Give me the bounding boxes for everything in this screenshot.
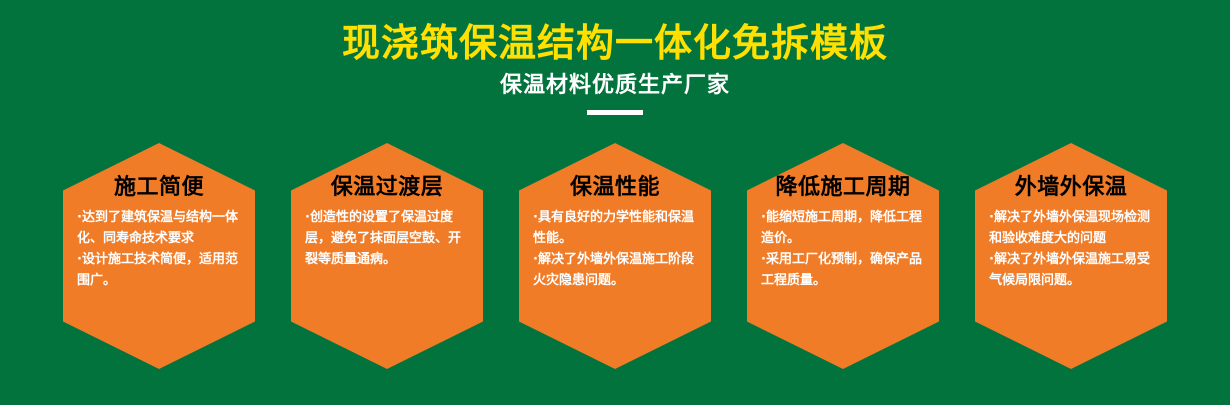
feature-bullet: ·达到了建筑保温与结构一体化、同寿命技术要求 xyxy=(77,207,243,249)
feature-bullet: ·具有良好的力学性能和保温性能。 xyxy=(533,207,699,249)
feature-card-heading: 施工简便 xyxy=(75,175,243,201)
feature-card-insulation-transition-layer[interactable]: 保温过渡层 ·创造性的设置了保温过度层，避免了抹面层空鼓、开裂等质量通病。 xyxy=(291,143,483,369)
feature-bullet: ·解决了外墙外保温现场检测和验收难度大的问题 xyxy=(989,207,1155,249)
feature-card-content: 保温过渡层 ·创造性的设置了保温过度层，避免了抹面层空鼓、开裂等质量通病。 xyxy=(291,143,483,270)
feature-card-insulation-performance[interactable]: 保温性能 ·具有良好的力学性能和保温性能。 ·解决了外墙外保温施工阶段火灾隐患问… xyxy=(519,143,711,369)
feature-bullet: ·解决了外墙外保温施工易受气候局限问题。 xyxy=(989,249,1155,291)
feature-card-bullets: ·创造性的设置了保温过度层，避免了抹面层空鼓、开裂等质量通病。 xyxy=(303,207,471,270)
feature-card-heading: 保温过渡层 xyxy=(303,175,471,201)
feature-bullet: ·能缩短施工周期，降低工程造价。 xyxy=(761,207,927,249)
feature-bullet: ·创造性的设置了保温过度层，避免了抹面层空鼓、开裂等质量通病。 xyxy=(305,207,471,270)
feature-hexagon-row: 施工简便 ·达到了建筑保温与结构一体化、同寿命技术要求 ·设计施工技术简便，适用… xyxy=(0,143,1230,369)
header-divider xyxy=(587,110,643,115)
feature-card-content: 外墙外保温 ·解决了外墙外保温现场检测和验收难度大的问题 ·解决了外墙外保温施工… xyxy=(975,143,1167,291)
feature-card-heading: 保温性能 xyxy=(531,175,699,201)
header-divider-wrap xyxy=(0,110,1230,115)
page-subtitle: 保温材料优质生产厂家 xyxy=(0,72,1230,100)
feature-card-content: 保温性能 ·具有良好的力学性能和保温性能。 ·解决了外墙外保温施工阶段火灾隐患问… xyxy=(519,143,711,291)
feature-card-content: 降低施工周期 ·能缩短施工周期，降低工程造价。 ·采用工厂化预制，确保产品工程质… xyxy=(747,143,939,291)
feature-bullet: ·解决了外墙外保温施工阶段火灾隐患问题。 xyxy=(533,249,699,291)
feature-card-bullets: ·具有良好的力学性能和保温性能。 ·解决了外墙外保温施工阶段火灾隐患问题。 xyxy=(531,207,699,291)
feature-card-exterior-wall-insulation[interactable]: 外墙外保温 ·解决了外墙外保温现场检测和验收难度大的问题 ·解决了外墙外保温施工… xyxy=(975,143,1167,369)
feature-card-heading: 外墙外保温 xyxy=(987,175,1155,201)
feature-bullet: ·采用工厂化预制，确保产品工程质量。 xyxy=(761,249,927,291)
banner-header: 现浇筑保温结构一体化免拆模板 保温材料优质生产厂家 xyxy=(0,0,1230,115)
feature-card-reduced-construction-cycle[interactable]: 降低施工周期 ·能缩短施工周期，降低工程造价。 ·采用工厂化预制，确保产品工程质… xyxy=(747,143,939,369)
feature-bullet: ·设计施工技术简便，适用范围广。 xyxy=(77,249,243,291)
feature-card-content: 施工简便 ·达到了建筑保温与结构一体化、同寿命技术要求 ·设计施工技术简便，适用… xyxy=(63,143,255,291)
feature-card-bullets: ·能缩短施工周期，降低工程造价。 ·采用工厂化预制，确保产品工程质量。 xyxy=(759,207,927,291)
feature-card-construction-convenience[interactable]: 施工简便 ·达到了建筑保温与结构一体化、同寿命技术要求 ·设计施工技术简便，适用… xyxy=(63,143,255,369)
feature-card-bullets: ·解决了外墙外保温现场检测和验收难度大的问题 ·解决了外墙外保温施工易受气候局限… xyxy=(987,207,1155,291)
feature-card-bullets: ·达到了建筑保温与结构一体化、同寿命技术要求 ·设计施工技术简便，适用范围广。 xyxy=(75,207,243,291)
feature-card-heading: 降低施工周期 xyxy=(759,175,927,201)
page-title: 现浇筑保温结构一体化免拆模板 xyxy=(0,22,1230,64)
